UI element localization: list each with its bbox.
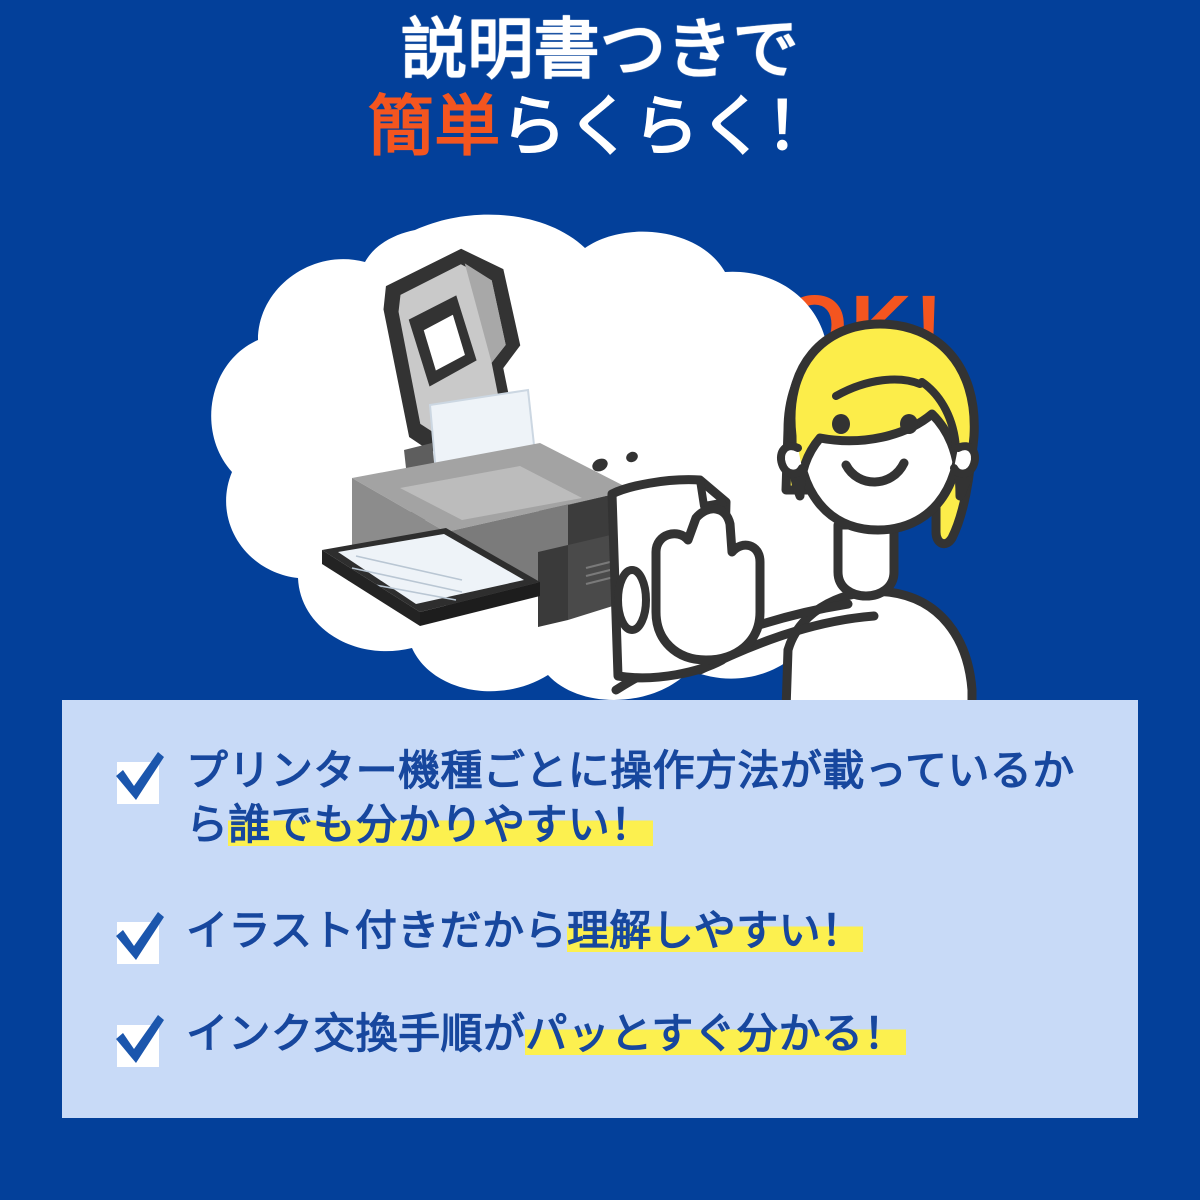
promo-banner: 説明書つきで 簡単らくらく！ OK! — [0, 0, 1200, 1200]
feature-text: イラスト付きだから理解しやすい！ — [186, 902, 863, 958]
feature-text-part: プリンター機種ごとに操作方法が載って — [186, 747, 947, 794]
check-mark-icon — [110, 908, 168, 966]
feature-text-highlight: パッとすぐ分かる！ — [525, 1010, 906, 1057]
page-title: 説明書つきで 簡単らくらく！ — [0, 16, 1200, 161]
feature-text-highlight: 理解しやすい！ — [567, 907, 864, 954]
feature-panel: プリンター機種ごとに操作方法が載っているから誰でも分かりやすい！ イラスト付きだ… — [62, 700, 1138, 1118]
feature-text-part: イラスト付きだから — [186, 907, 567, 954]
feature-item: イラスト付きだから理解しやすい！ — [110, 902, 1110, 966]
feature-text-part: インク交換手順が — [186, 1010, 525, 1057]
feature-text-highlight: 誰でも分かりやすい！ — [228, 801, 652, 848]
illustration — [0, 200, 1200, 710]
feature-item: インク交換手順がパッとすぐ分かる！ — [110, 1005, 1110, 1069]
feature-item: プリンター機種ごとに操作方法が載っているから誰でも分かりやすい！ — [110, 742, 1110, 852]
check-mark-icon — [110, 748, 168, 806]
feature-text: プリンター機種ごとに操作方法が載っているから誰でも分かりやすい！ — [186, 742, 1110, 852]
headline-line-2-rest: らくらく！ — [501, 89, 833, 163]
headline-keyword: 簡単 — [368, 89, 501, 163]
feature-text: インク交換手順がパッとすぐ分かる！ — [186, 1005, 906, 1061]
headline-line-2: 簡単らくらく！ — [0, 93, 1200, 160]
headline-line-1: 説明書つきで — [0, 16, 1200, 83]
check-mark-icon — [110, 1011, 168, 1069]
